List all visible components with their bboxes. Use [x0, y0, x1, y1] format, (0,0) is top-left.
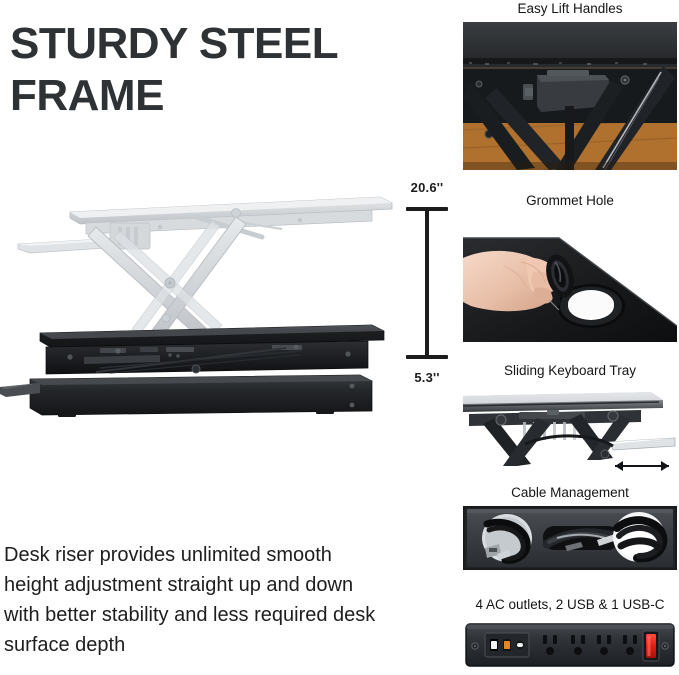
feature-panel-grommet: Grommet Hole: [463, 192, 677, 342]
feature-title-tray: Sliding Keyboard Tray: [463, 362, 677, 380]
max-height-label: 20.6'': [398, 180, 456, 195]
feature-title-grommet: Grommet Hole: [463, 192, 677, 210]
page-title: STURDY STEEL FRAME: [10, 18, 440, 122]
feature-panel-handles: Easy Lift Handles: [463, 0, 677, 170]
measure-stem: [425, 209, 429, 357]
feature-panel-tray: Sliding Keyboard Tray: [463, 362, 677, 476]
feature-photo-cable: [463, 506, 677, 570]
desk-riser-side-view-illustration: [0, 165, 400, 455]
feature-photo-tray: [463, 384, 677, 476]
feature-photo-grommet: [463, 214, 677, 342]
feature-title-outlets: 4 AC outlets, 2 USB & 1 USB-C: [463, 596, 677, 614]
min-height-label: 5.3'': [398, 370, 456, 385]
product-description: Desk riser provides unlimited smooth hei…: [4, 540, 379, 660]
height-range-callout: 20.6'' 5.3'': [398, 180, 456, 385]
feature-title-cable: Cable Management: [463, 484, 677, 502]
feature-panel-cable: Cable Management: [463, 484, 677, 570]
feature-panel-outlets: 4 AC outlets, 2 USB & 1 USB-C: [463, 596, 677, 671]
feature-title-handles: Easy Lift Handles: [463, 0, 677, 18]
feature-photo-outlets: [463, 619, 677, 671]
lowered-black-assembly: [0, 325, 384, 417]
feature-photo-handles: [463, 22, 677, 170]
product-infographic: STURDY STEEL FRAME: [0, 0, 679, 675]
measure-bottom-cap: [406, 355, 448, 359]
ghost-raised-assembly: [18, 197, 392, 340]
